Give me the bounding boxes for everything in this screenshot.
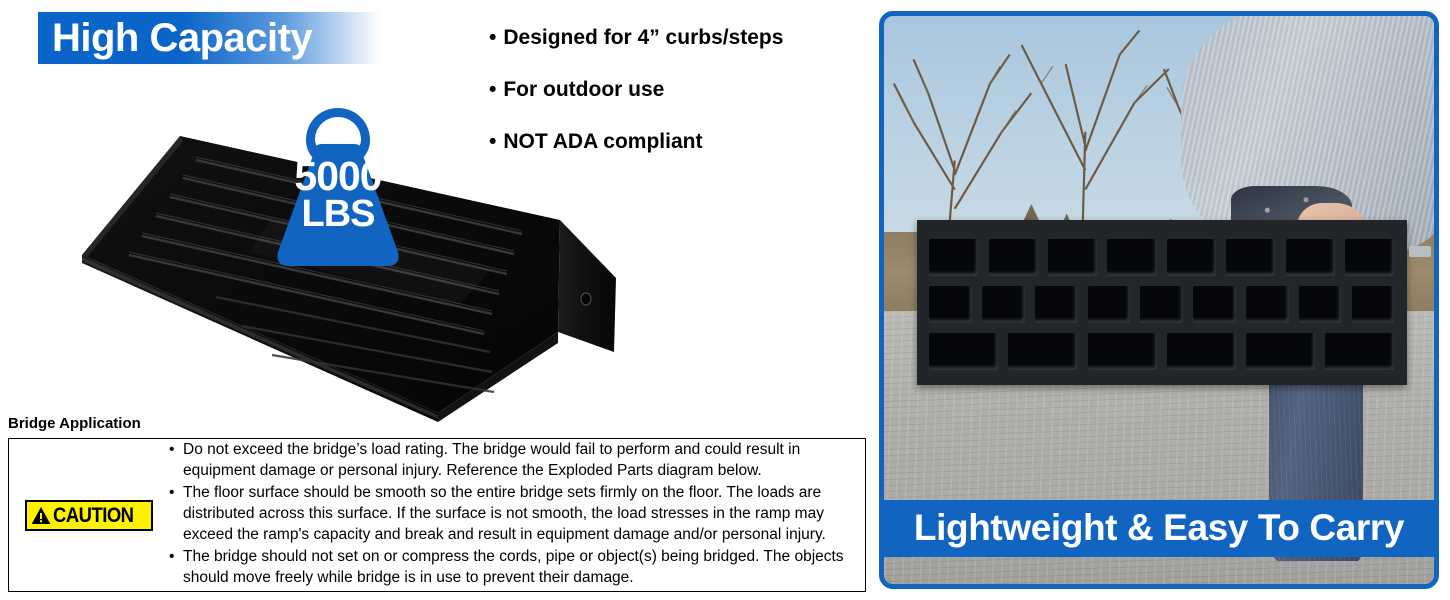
- photo-ramp-cell: [1167, 333, 1236, 371]
- photo-ramp-cell-row: [929, 333, 1394, 371]
- photo-ramp-cell: [1140, 286, 1183, 324]
- caution-list-item: Do not exceed the bridge’s load rating. …: [169, 440, 853, 482]
- photo-ramp-cell: [1246, 333, 1315, 371]
- bullet-icon: •: [489, 26, 496, 49]
- photo-caption-bar: Lightweight & Easy To Carry: [884, 500, 1434, 557]
- photo-ramp-cell: [1048, 239, 1097, 277]
- photo-ramp-cell: [989, 239, 1038, 277]
- photo-ramp-cell: [1246, 286, 1289, 324]
- feature-item-label: Designed for 4” curbs/steps: [503, 26, 783, 49]
- photo-ramp-cell: [1226, 239, 1275, 277]
- photo-ramp-cell: [929, 286, 972, 324]
- photo-ramp-cell: [1286, 239, 1335, 277]
- photo-caption-label: Lightweight & Easy To Carry: [884, 509, 1434, 546]
- feature-item: •For outdoor use: [489, 78, 869, 101]
- photo-ramp-cell: [982, 286, 1025, 324]
- photo-ramp-cell: [929, 239, 978, 277]
- photo-ramp-cell: [1325, 333, 1394, 371]
- weight-value: 5000: [294, 153, 381, 199]
- photo-ramp-cell: [929, 333, 998, 371]
- photo-image: Lightweight & Easy To Carry: [884, 16, 1434, 584]
- photo-carried-ramp: [917, 220, 1407, 385]
- caution-badge-label: CAUTION: [53, 505, 133, 526]
- product-infographic: High Capacity •Designed for 4” curbs/ste…: [0, 0, 1450, 600]
- photo-ramp-cell: [1299, 286, 1342, 324]
- weight-unit: LBS: [258, 196, 418, 233]
- photo-ramp-cell: [1088, 286, 1131, 324]
- warning-triangle-icon: [31, 506, 51, 525]
- weight-capacity-badge: 5000 LBS: [258, 100, 418, 275]
- photo-ramp-bolt: [1409, 246, 1431, 257]
- photo-ramp-cell: [1107, 239, 1156, 277]
- photo-ramp-cell: [1008, 333, 1077, 371]
- caution-box: CAUTION Do not exceed the bridge’s load …: [8, 438, 866, 592]
- photo-ramp-cell: [1345, 239, 1394, 277]
- photo-ramp-cell: [1352, 286, 1395, 324]
- bridge-application-title: Bridge Application: [8, 415, 141, 432]
- photo-ramp-cell-row: [929, 239, 1394, 277]
- photo-ramp-cell-grid: [929, 239, 1394, 371]
- caution-list-item: The floor surface should be smooth so th…: [169, 483, 853, 546]
- photo-ramp-cell: [1088, 333, 1157, 371]
- bullet-icon: •: [489, 78, 496, 101]
- caution-badge: CAUTION: [25, 500, 153, 531]
- photo-ramp-cell: [1193, 286, 1236, 324]
- high-capacity-banner-label: High Capacity: [38, 18, 312, 58]
- caution-badge-cell: CAUTION: [9, 439, 169, 591]
- feature-item: •Designed for 4” curbs/steps: [489, 26, 869, 49]
- lightweight-photo-panel: Lightweight & Easy To Carry: [879, 11, 1439, 589]
- weight-badge-label: 5000 LBS: [258, 156, 418, 233]
- caution-list-item: The bridge should not set on or compress…: [169, 547, 853, 589]
- photo-ramp-cell: [1035, 286, 1078, 324]
- photo-ramp-cell: [1167, 239, 1216, 277]
- high-capacity-banner: High Capacity: [38, 12, 380, 64]
- caution-list: Do not exceed the bridge’s load rating. …: [169, 440, 865, 589]
- photo-ramp-cell-row: [929, 286, 1394, 324]
- feature-item-label: For outdoor use: [503, 78, 664, 101]
